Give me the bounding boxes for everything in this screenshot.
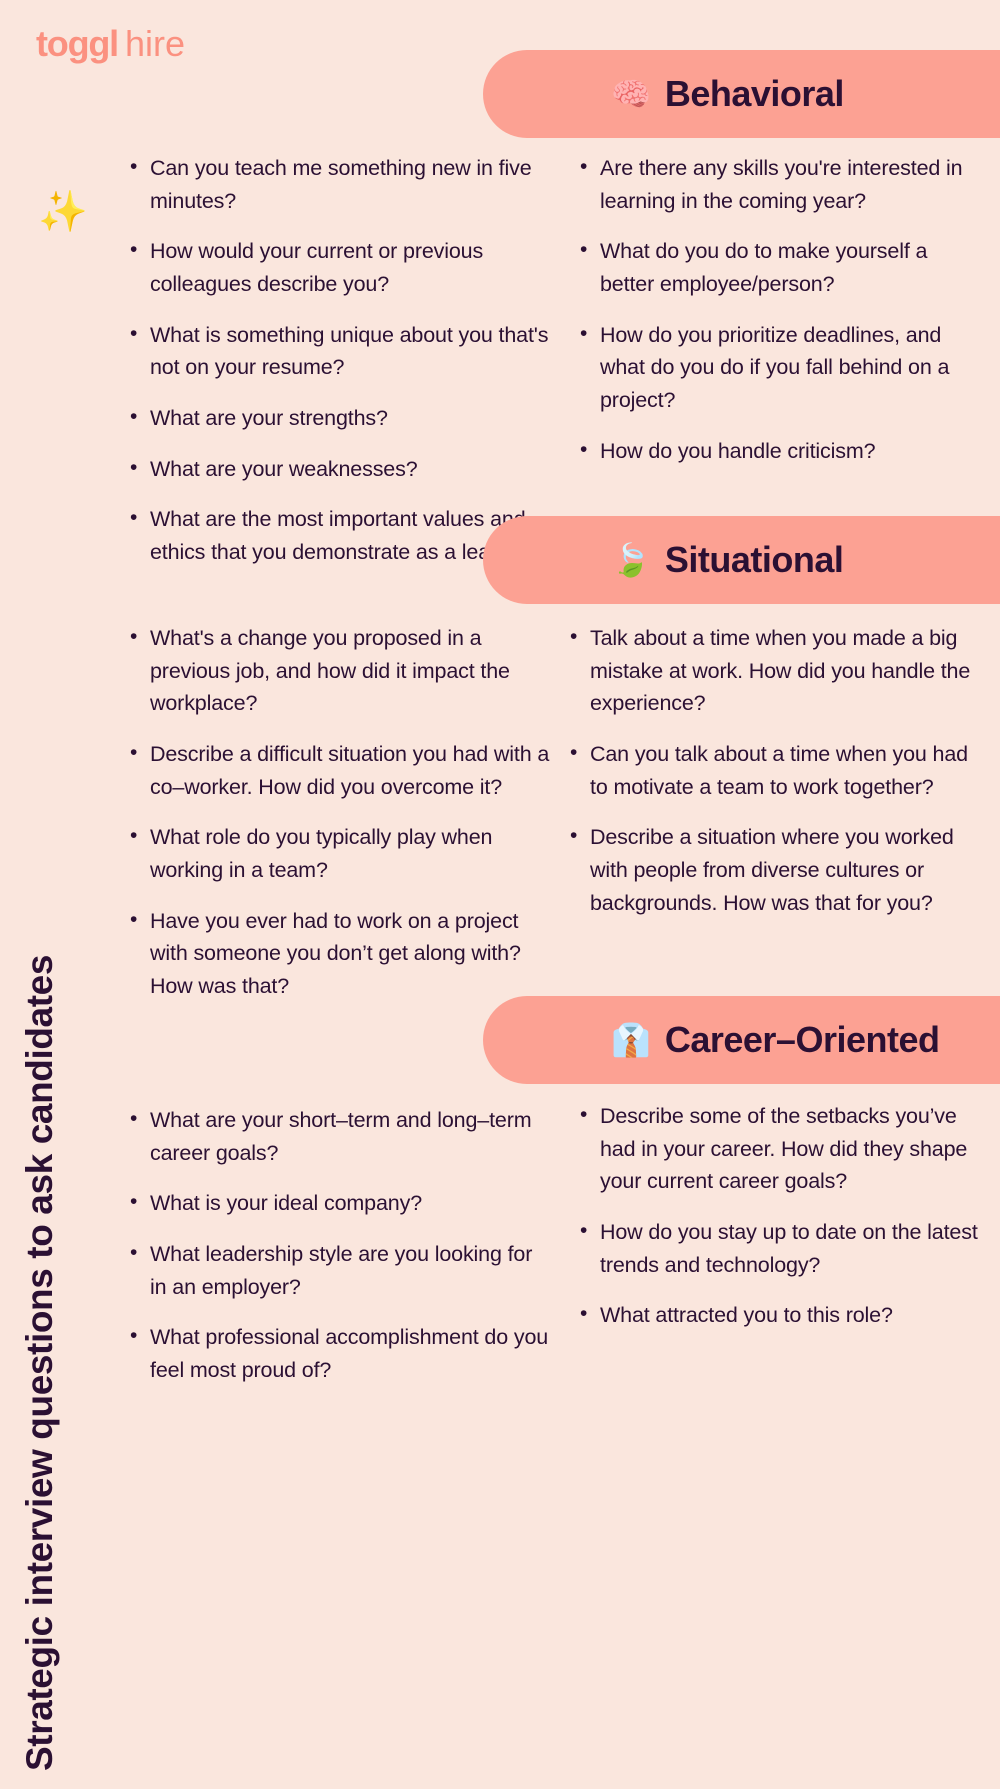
section-title-career-oriented: Career–Oriented [665, 1019, 940, 1061]
list-item: What is something unique about you that'… [126, 319, 554, 384]
list-item: What are your weaknesses? [126, 453, 554, 486]
question-list-situational-left: What's a change you proposed in a previo… [126, 622, 554, 1021]
list-item: Are there any skills you're interested i… [576, 152, 986, 217]
logo-hire-word: hire [125, 23, 185, 64]
section-banner-career-oriented: 👔 Career–Oriented [483, 996, 1000, 1084]
leaf-icon: 🍃 [611, 544, 651, 576]
list-item: How do you stay up to date on the latest… [576, 1216, 986, 1281]
question-list-behavioral-right: Are there any skills you're interested i… [576, 152, 986, 485]
list-item: What are your short–term and long–term c… [126, 1104, 554, 1169]
list-item: Can you teach me something new in five m… [126, 152, 554, 217]
list-item: What leadership style are you looking fo… [126, 1238, 554, 1303]
section-banner-situational: 🍃 Situational [483, 516, 1000, 604]
side-title-container: ✨ Strategic interview questions to ask c… [0, 0, 120, 1400]
brain-icon: 🧠 [611, 78, 651, 110]
list-item: Describe some of the setbacks you’ve had… [576, 1100, 986, 1198]
list-item: How do you handle criticism? [576, 435, 986, 468]
question-list-career-right: Describe some of the setbacks you’ve had… [576, 1100, 986, 1350]
list-item: What attracted you to this role? [576, 1299, 986, 1332]
question-list-situational-right: Talk about a time when you made a big mi… [566, 622, 986, 937]
list-item: How would your current or previous colle… [126, 235, 554, 300]
question-list-behavioral-left: Can you teach me something new in five m… [126, 152, 554, 587]
section-banner-behavioral: 🧠 Behavioral [483, 50, 1000, 138]
list-item: How do you prioritize deadlines, and wha… [576, 319, 986, 417]
page-title: Strategic interview questions to ask can… [19, 469, 61, 1789]
list-item: What professional accomplishment do you … [126, 1321, 554, 1386]
question-list-career-left: What are your short–term and long–term c… [126, 1104, 554, 1405]
list-item: What do you do to make yourself a better… [576, 235, 986, 300]
list-item: What role do you typically play when wor… [126, 821, 554, 886]
list-item: What are your strengths? [126, 402, 554, 435]
section-title-behavioral: Behavioral [665, 73, 844, 115]
sparkles-icon: ✨ [38, 192, 88, 232]
list-item: Talk about a time when you made a big mi… [566, 622, 986, 720]
list-item: Have you ever had to work on a project w… [126, 905, 554, 1003]
necktie-icon: 👔 [611, 1024, 651, 1056]
list-item: What's a change you proposed in a previo… [126, 622, 554, 720]
list-item: Can you talk about a time when you had t… [566, 738, 986, 803]
list-item: Describe a difficult situation you had w… [126, 738, 554, 803]
list-item: Describe a situation where you worked wi… [566, 821, 986, 919]
section-title-situational: Situational [665, 539, 844, 581]
list-item: What is your ideal company? [126, 1187, 554, 1220]
